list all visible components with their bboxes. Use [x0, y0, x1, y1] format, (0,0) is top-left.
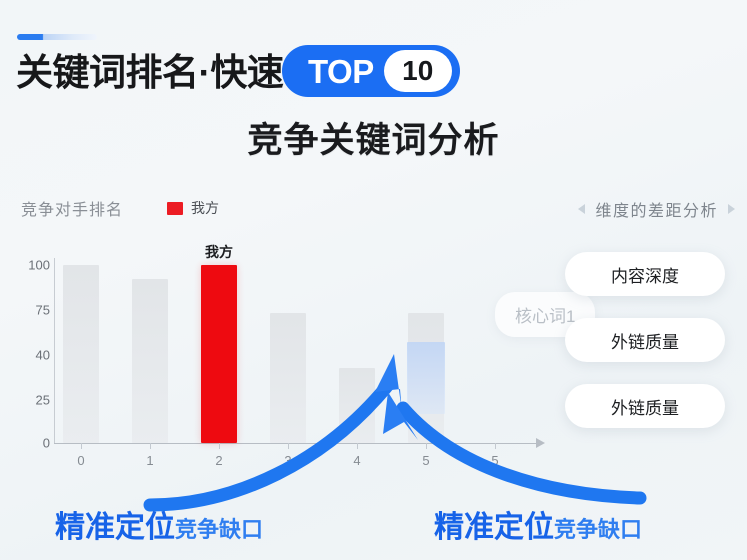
x-tick-6: 5: [491, 453, 498, 468]
y-tick-4: 0: [10, 436, 50, 451]
triangle-left-icon: [578, 204, 585, 214]
dimension-pill-2[interactable]: 外链质量: [565, 384, 725, 428]
page-title: 关键词排名·快速: [16, 54, 283, 91]
progress-indicator: [17, 34, 97, 40]
dimension-pill-list: 内容深度 外链质量 外链质量: [565, 252, 725, 428]
dimension-panel-title: 维度的差距分析: [595, 197, 718, 221]
bar-2-ours[interactable]: [201, 265, 237, 443]
caption-right: 精准定位 竞争缺口: [434, 502, 642, 546]
x-tick-2: 2: [215, 453, 222, 468]
top-rank-badge: TOP 10: [282, 45, 460, 97]
y-tick-0: 100: [10, 258, 50, 273]
legend-swatch-icon: [167, 202, 183, 215]
caption-right-soft: 竞争缺口: [554, 512, 642, 544]
bar-4[interactable]: [339, 368, 375, 443]
bar-label-ours: 我方: [205, 242, 233, 262]
y-tick-1: 75: [10, 303, 50, 318]
top-badge-value: 10: [384, 50, 452, 92]
competitor-rank-chart: 100 75 40 25 0 我方 0 1 2 3 4 5 5: [10, 250, 540, 450]
y-tick-2: 40: [10, 348, 50, 363]
caption-left: 精准定位 竞争缺口: [55, 502, 263, 546]
legend-entry-ours: 我方: [167, 198, 219, 218]
y-axis-line: [54, 258, 55, 443]
headline-row: 关键词排名·快速: [16, 44, 283, 100]
chart-legend: 竞争对手排名 我方: [21, 196, 219, 220]
caption-left-strong: 精准定位: [55, 502, 175, 546]
x-axis-arrow-icon: [536, 438, 545, 448]
x-axis-line: [54, 443, 540, 444]
top-badge-label: TOP: [308, 55, 374, 88]
caption-right-strong: 精准定位: [434, 502, 554, 546]
dimension-pill-1[interactable]: 外链质量: [565, 318, 725, 362]
page-subtitle: 竞争关键词分析: [0, 112, 747, 163]
dimension-pill-0[interactable]: 内容深度: [565, 252, 725, 296]
x-tick-4: 4: [353, 453, 360, 468]
bar-1[interactable]: [132, 279, 168, 443]
legend-entry-label: 我方: [191, 198, 219, 218]
x-tick-3: 3: [284, 453, 291, 468]
bar-3[interactable]: [270, 313, 306, 443]
y-axis-ticks: 100 75 40 25 0: [10, 250, 50, 450]
chart-legend-title: 竞争对手排名: [21, 196, 123, 220]
triangle-right-icon: [728, 204, 735, 214]
bar-0[interactable]: [63, 265, 99, 443]
x-tick-5: 5: [422, 453, 429, 468]
x-tick-0: 0: [77, 453, 84, 468]
caption-left-soft: 竞争缺口: [175, 512, 263, 544]
x-tick-1: 1: [146, 453, 153, 468]
y-tick-3: 25: [10, 393, 50, 408]
bar-highlight-blue[interactable]: [407, 342, 445, 414]
dimension-panel-header: 维度的差距分析: [578, 197, 735, 221]
